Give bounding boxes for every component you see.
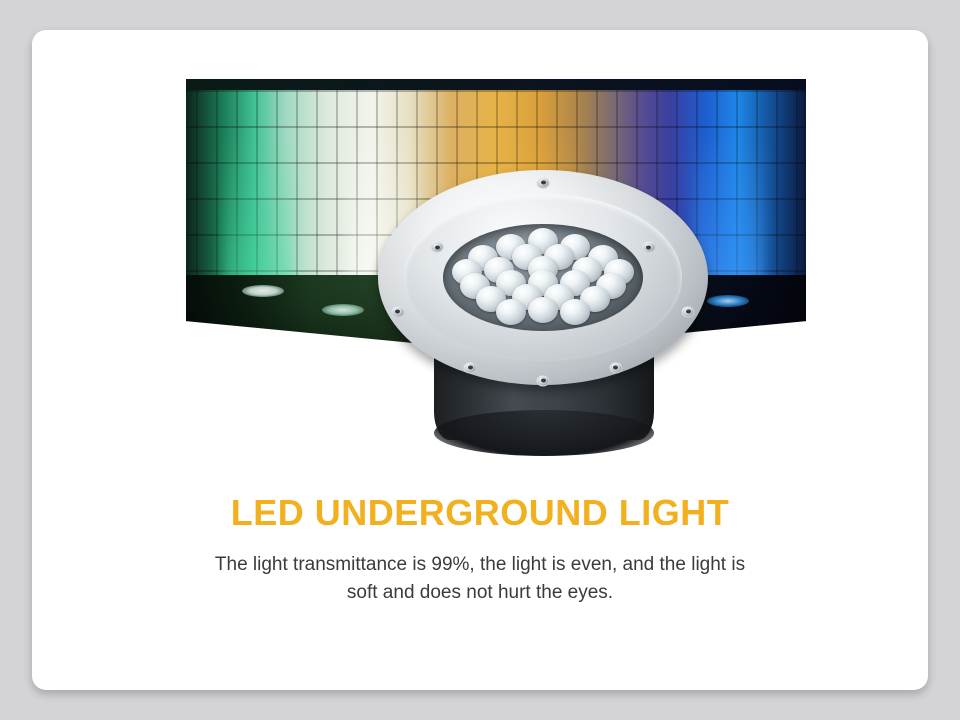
fixture-inner-ring	[404, 194, 681, 362]
bezel-screw	[431, 242, 444, 253]
led-underground-light-fixture	[378, 170, 708, 460]
bezel-screw	[682, 306, 695, 317]
slide-card: LED UNDERGROUND LIGHT The light transmit…	[32, 30, 928, 690]
light-beam-green	[223, 128, 293, 286]
led-lens	[560, 299, 590, 325]
fixture-lens-plate	[443, 224, 643, 331]
caption-block: LED UNDERGROUND LIGHT The light transmit…	[32, 492, 928, 606]
bezel-screw	[537, 375, 550, 386]
led-lens	[496, 299, 526, 325]
bezel-screw	[464, 362, 477, 373]
ground-spot-light-2	[322, 304, 364, 316]
bezel-screw	[609, 362, 622, 373]
fixture-bezel	[378, 170, 708, 385]
led-lens	[528, 297, 558, 323]
slide-root: LED UNDERGROUND LIGHT The light transmit…	[0, 0, 960, 720]
bezel-screw	[642, 242, 655, 253]
bezel-screw	[537, 177, 550, 188]
product-description: The light transmittance is 99%, the ligh…	[210, 551, 750, 606]
bezel-screw	[391, 306, 404, 317]
product-title: LED UNDERGROUND LIGHT	[32, 492, 928, 533]
ground-spot-light-1	[242, 285, 284, 297]
